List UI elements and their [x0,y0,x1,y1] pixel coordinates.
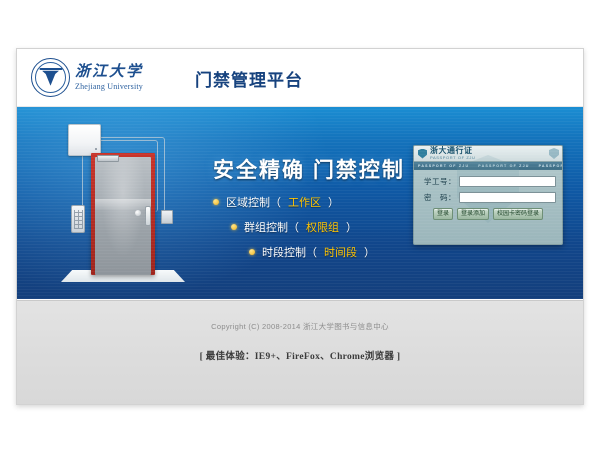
list-item: 时段控制（时间段） [249,244,375,260]
page-card: 浙江大学 Zhejiang University 门禁管理平台 [16,48,584,405]
list-item: 群组控制（权限组） [231,219,375,235]
watermark-text: PASSPORT OF ZJU [539,164,562,168]
copyright-text: Copyright (C) 2008-2014 浙江大学图书与信息中心 [17,300,583,332]
bullet-icon [249,249,255,255]
browser-support-text: [ 最佳体验：IE9+、FireFox、Chrome浏览器 ] [17,348,583,362]
feature-tail-label: ） [328,194,339,210]
username-input[interactable] [459,176,556,187]
keypad-reader-icon [71,205,85,233]
logo-name-en: Zhejiang University [75,83,143,91]
feature-label: 群组控制（ [244,219,299,235]
hero-banner: 安全精确 门禁控制 区域控制（工作区） 群组控制（权限组） 时段控制（时间段） … [17,107,583,299]
door-knob-icon [135,210,141,216]
controller-box-icon [68,124,101,156]
banner-headline: 安全精确 门禁控制 [213,154,405,184]
watermark-text: PASSPORT OF ZJU [478,164,529,168]
feature-label: 时段控制（ [262,244,317,260]
list-item: 区域控制（工作区） [213,194,375,210]
login-add-button[interactable]: 登录添加 [457,208,489,220]
logo-wordmark: 浙江大学 Zhejiang University [75,65,143,91]
bullet-icon [231,224,237,230]
login-panel-subtitle: PASSPORT OF ZJU [430,156,475,160]
feature-accent-label: 权限组 [306,219,339,235]
password-label: 密 码： [420,192,459,203]
logo-name-cn: 浙江大学 [75,65,143,80]
login-button-group: 登录 登录添加 校园卡密码登录 [420,208,556,220]
shield-watermark-icon [549,148,559,159]
password-input[interactable] [459,192,556,203]
site-footer: Copyright (C) 2008-2014 浙江大学图书与信息中心 [ 最佳… [17,299,583,405]
seal-bar-shape [39,68,62,70]
seal-emblem-shape [42,71,59,86]
controller-led-icon [95,148,97,150]
bullet-icon [213,199,219,205]
university-logo[interactable]: 浙江大学 Zhejiang University [31,58,143,97]
username-label: 学工号： [420,176,459,187]
feature-list: 区域控制（工作区） 群组控制（权限组） 时段控制（时间段） [213,194,375,269]
feature-tail-label: ） [364,244,375,260]
cable-to-keypad-icon [82,153,84,206]
keypad-keys-shape [74,210,83,229]
door-handle-icon [145,206,151,226]
campus-card-login-button[interactable]: 校园卡密码登录 [493,208,543,220]
door-closer-icon [97,155,119,162]
university-seal-icon [31,58,70,97]
password-row: 密 码： [420,192,556,203]
login-panel: 浙大通行证 PASSPORT OF ZJU PASSPORT OF ZJU PA… [413,145,563,245]
feature-accent-label: 工作区 [288,194,321,210]
login-button[interactable]: 登录 [433,208,453,220]
feature-accent-label: 时间段 [324,244,357,260]
username-row: 学工号： [420,176,556,187]
door-access-illustration [51,111,191,296]
login-panel-title-group: 浙大通行证 PASSPORT OF ZJU [430,147,475,160]
page-title: 门禁管理平台 [195,66,303,91]
login-panel-header: 浙大通行证 PASSPORT OF ZJU [414,146,562,162]
door-leaf-shape [95,157,151,275]
feature-label: 区域控制（ [226,194,281,210]
watermark-text: PASSPORT OF ZJU [418,164,469,168]
shield-icon [418,149,427,159]
site-header: 浙江大学 Zhejiang University 门禁管理平台 [17,49,583,107]
card-reader-icon [161,210,173,224]
passport-watermark-strip: PASSPORT OF ZJU PASSPORT OF ZJU PASSPORT… [414,162,562,170]
login-form: 学工号： 密 码： 登录 登录添加 校园卡密码登录 [414,170,562,220]
feature-tail-label: ） [346,219,357,235]
login-panel-title: 浙大通行证 [430,147,475,155]
